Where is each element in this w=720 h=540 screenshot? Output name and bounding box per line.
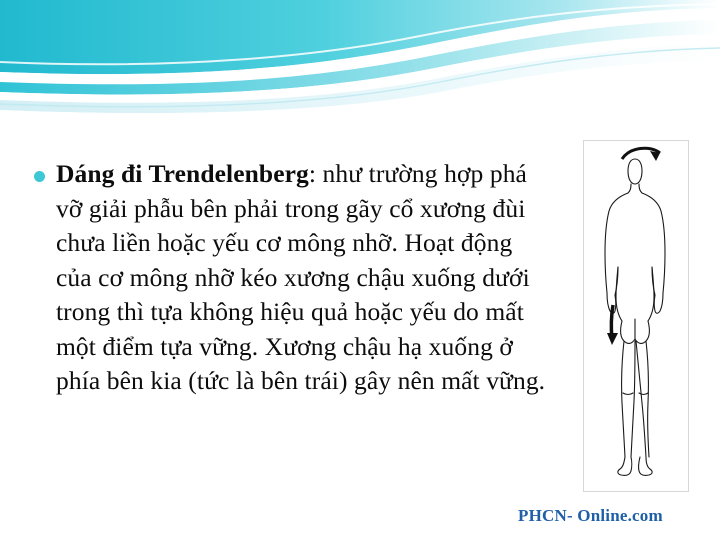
bullet-body-text: : như trường hợp phá vỡ giải phẫu bên ph… [56, 159, 545, 395]
down-arrow-icon [607, 305, 618, 345]
slide: Dáng đi Trendelenberg: như trường hợp ph… [0, 0, 720, 540]
curved-arrow-icon [622, 148, 660, 161]
footer-branding: PHCN- Online.com [518, 506, 663, 526]
header-wave-graphic [0, 0, 720, 120]
header-decoration [0, 0, 720, 120]
bullet-dot-icon [34, 171, 45, 182]
trendelenburg-gait-diagram [583, 140, 689, 492]
figure-body-outline [584, 141, 686, 489]
bullet-paragraph: Dáng đi Trendelenberg: như trường hợp ph… [56, 157, 554, 399]
bullet-item: Dáng đi Trendelenberg: như trường hợp ph… [34, 157, 554, 399]
slide-body: Dáng đi Trendelenberg: như trường hợp ph… [0, 120, 720, 540]
bullet-lead-text: Dáng đi Trendelenberg [56, 159, 309, 188]
